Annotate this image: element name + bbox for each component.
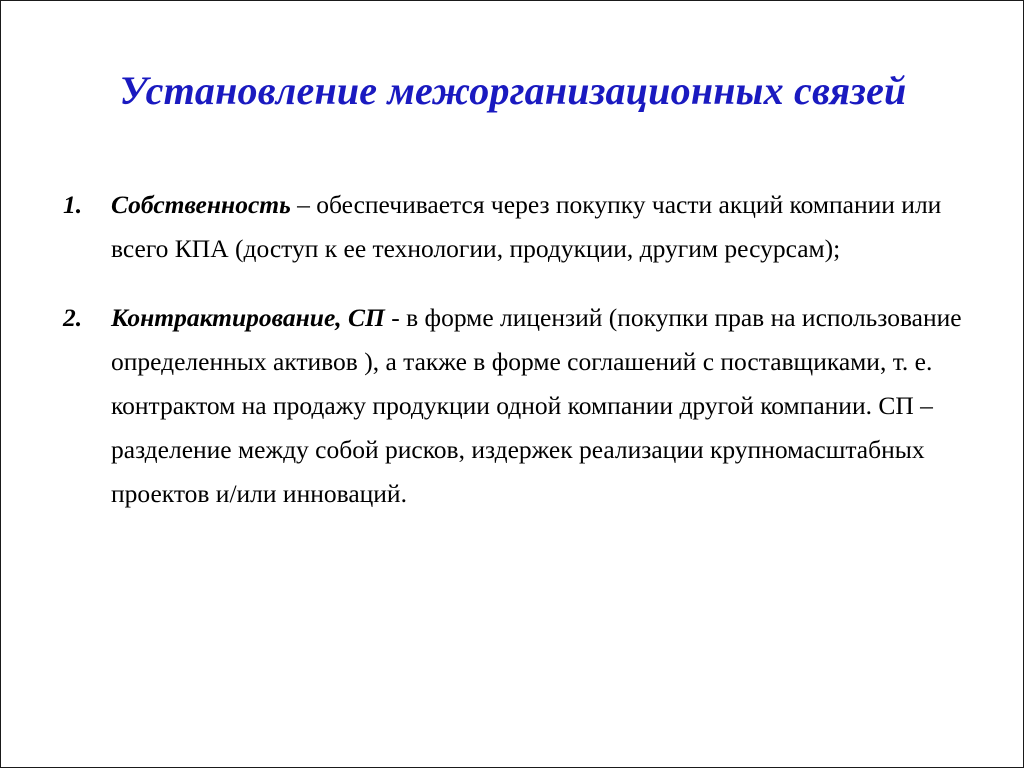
list-item-marker: 2. [63, 296, 103, 340]
page-title: Установление межорганизационных связей [63, 66, 963, 115]
slide-canvas: Установление межорганизационных связей 1… [0, 0, 1024, 768]
list-item-lead-term: Собственность [111, 190, 291, 219]
list-item: 1. Собственность – обеспечивается через … [1, 183, 1024, 271]
list-item-text: Собственность – обеспечивается через пок… [111, 183, 963, 271]
list-item-text: Контрактирование, СП - в форме лицензий … [111, 296, 963, 516]
list-item-body: - в форме лицензий (покупки прав на испо… [111, 303, 962, 508]
list-item: 2. Контрактирование, СП - в форме лиценз… [1, 296, 1024, 516]
list-item-lead-term: Контрактирование, СП [111, 303, 385, 332]
list-item-marker: 1. [63, 183, 103, 227]
numbered-list: 1. Собственность – обеспечивается через … [1, 183, 1024, 516]
